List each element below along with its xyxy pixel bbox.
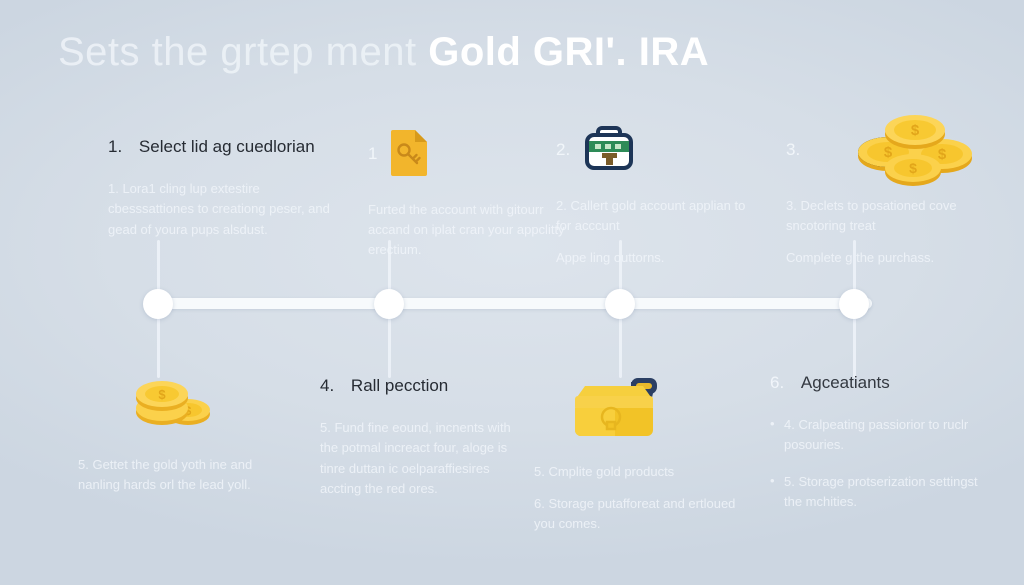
step-top-2-number: 1 (368, 144, 377, 164)
timeline-node-4[interactable] (839, 289, 869, 319)
step-bottom-4-heading: 6. Agceatiants (770, 372, 990, 393)
timeline-stem-down-4 (853, 318, 856, 378)
toolbox-icon (580, 120, 638, 181)
step-bottom-2-paragraph-1: 5. Fund fine eound, incnents with the po… (320, 418, 525, 499)
step-bottom-4: 6. Agceatiants 4. Cralpeating passiorior… (770, 372, 990, 512)
step-bottom-1-body: 5. Gettet the gold yoth ine and nanling … (78, 455, 293, 495)
step-bottom-4-bullet-2: 5. Storage protserization settingst the … (770, 472, 990, 512)
step-top-2-heading: 1 (368, 128, 568, 180)
step-top-4-paragraph-2: Complete g the purchass. (786, 248, 986, 268)
step-top-1-heading: 1. Select lid ag cuedlorian (108, 136, 333, 157)
step-bottom-1: 5. Gettet the gold yoth ine and nanling … (78, 455, 293, 495)
page-title: Sets the grtep ment Gold GRI'. IRA (58, 28, 709, 76)
gold-coins-stack-icon: $ $ $ $ (856, 112, 974, 188)
step-bottom-4-body: 4. Cralpeating passiorior to ruclr posou… (770, 415, 990, 512)
step-top-3-number: 2. (556, 140, 570, 160)
svg-text:$: $ (158, 387, 166, 402)
step-bottom-3-paragraph-1: 5. Cmplite gold products (534, 462, 749, 482)
document-key-icon (387, 127, 431, 182)
timeline-node-3[interactable] (605, 289, 635, 319)
step-top-4-number: 3. (786, 140, 800, 160)
step-top-3-paragraph-2: Appe ling outtorns. (556, 248, 761, 268)
timeline-node-1[interactable] (143, 289, 173, 319)
timeline-spine (150, 298, 872, 309)
step-bottom-4-bullet-1: 4. Cralpeating passiorior to ruclr posou… (770, 415, 990, 455)
timeline-node-2[interactable] (374, 289, 404, 319)
step-top-1-body: 1. Lora1 cling lup extestire cbesssattio… (108, 179, 333, 239)
step-bottom-3-body: 5. Cmplite gold products 6. Storage puta… (534, 462, 749, 534)
svg-text:$: $ (909, 160, 917, 176)
svg-text:$: $ (911, 122, 920, 139)
step-bottom-2-label: Rall pecction (351, 376, 448, 395)
timeline-stem-down-3 (619, 318, 622, 378)
step-top-2-body: Furted the account with gitourr accand o… (368, 200, 568, 260)
gold-coins-small-icon: $ $ (126, 376, 218, 434)
step-bottom-4-bullet-list: 4. Cralpeating passiorior to ruclr posou… (770, 415, 990, 512)
step-top-2: 1 Furted the account with gitourr accand… (368, 128, 568, 260)
step-bottom-2-number: 4. (320, 376, 334, 395)
gold-vault-box-icon (563, 370, 669, 448)
step-top-4-body: 3. Declets to posationed cove sncotoring… (786, 196, 986, 268)
step-bottom-1-paragraph-1: 5. Gettet the gold yoth ine and nanling … (78, 455, 293, 495)
timeline-stem-down-1 (157, 318, 160, 378)
step-top-4-paragraph-1: 3. Declets to posationed cove sncotoring… (786, 196, 986, 236)
step-top-3-paragraph-1: 2. Callert gold account applian to for a… (556, 196, 761, 236)
timeline-stem-down-2 (388, 318, 391, 378)
svg-text:$: $ (884, 144, 893, 161)
step-bottom-4-label: Agceatiants (801, 373, 890, 392)
step-top-3-body: 2. Callert gold account applian to for a… (556, 196, 761, 268)
step-bottom-2-body: 5. Fund fine eound, incnents with the po… (320, 418, 525, 499)
step-top-3: 2. 2. Callert gold account applian to fo… (556, 124, 761, 268)
step-top-1-number: 1. (108, 137, 122, 156)
page-title-bold: Gold GRI'. IRA (428, 30, 709, 74)
page-title-light: Sets the grtep ment (58, 30, 417, 74)
step-top-3-heading: 2. (556, 124, 761, 176)
gold-ira-timeline-infographic: Sets the grtep ment Gold GRI'. IRA 1. Se… (0, 0, 1024, 585)
step-bottom-2-heading: 4. Rall pecction (320, 375, 525, 396)
step-top-1-label: Select lid ag cuedlorian (139, 137, 315, 156)
step-bottom-4-number: 6. (770, 373, 784, 392)
step-bottom-3: 5. Cmplite gold products 6. Storage puta… (534, 462, 749, 534)
step-top-2-paragraph-1: Furted the account with gitourr accand o… (368, 200, 568, 260)
step-top-1: 1. Select lid ag cuedlorian 1. Lora1 cli… (108, 136, 333, 240)
step-bottom-2: 4. Rall pecction 5. Fund fine eound, inc… (320, 375, 525, 499)
svg-text:$: $ (938, 146, 947, 163)
step-bottom-3-paragraph-2: 6. Storage putafforeat and ertloued you … (534, 494, 749, 534)
step-top-1-paragraph-1: 1. Lora1 cling lup extestire cbesssattio… (108, 179, 333, 239)
